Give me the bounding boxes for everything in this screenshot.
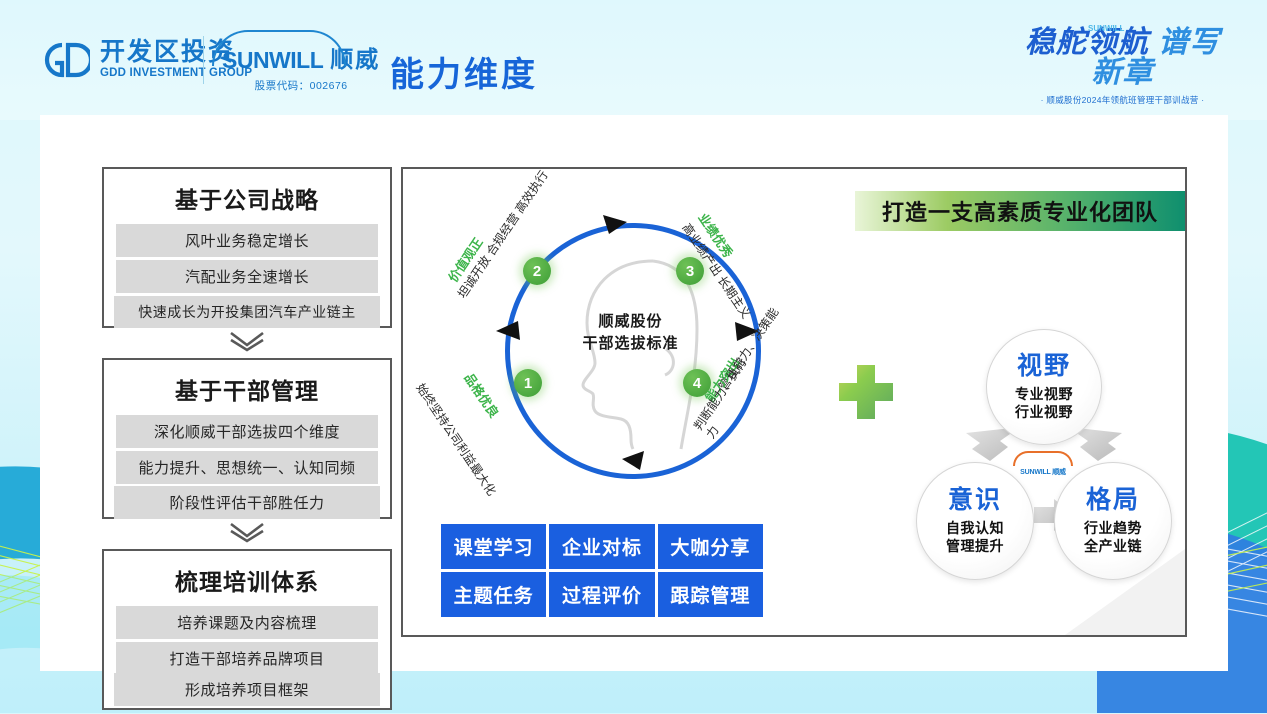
capability-panel: 顺威股份 干部选拔标准 1 2 3 4 始终坚持公司利益最大化 品格优良 坦诚开… (401, 167, 1187, 637)
team-goal-banner: 打造一支高素质专业化团队 (855, 191, 1185, 231)
camp-logo-subtitle: · 顺威股份2024年领航班管理干部训战营 · (1010, 94, 1235, 106)
sunwill-mini-logo-text: SUNWILL 顺威 (1008, 467, 1078, 477)
strategy-block: 基于公司战略 风叶业务稳定增长 汽配业务全速增长 快速成长为开投集团汽车产业链主 (102, 167, 392, 354)
content-card: 基于公司战略 风叶业务稳定增长 汽配业务全速增长 快速成长为开投集团汽车产业链主… (40, 115, 1228, 671)
training-method-cell[interactable]: 课堂学习 (441, 524, 546, 569)
block-row-outer: 快速成长为开投集团汽车产业链主 (114, 296, 380, 328)
block-row: 能力提升、思想统一、认知同频 (116, 451, 378, 484)
training-methods-row: 主题任务 过程评价 跟踪管理 (441, 572, 763, 617)
training-methods-grid: 课堂学习 企业对标 大咖分享 主题任务 过程评价 跟踪管理 (441, 524, 763, 620)
cycle-center-text: 顺威股份 干部选拔标准 (548, 311, 713, 355)
header-divider (203, 36, 204, 84)
block-row-outer: 阶段性评估干部胜任力 (114, 486, 380, 519)
capability-circle-title: 视野 (1017, 353, 1071, 381)
chevron-down-icon (102, 519, 392, 545)
strategy-block: 梳理培训体系 培养课题及内容梳理 打造干部培养品牌项目 形成培养项目框架 (102, 549, 392, 710)
strategy-block: 基于干部管理 深化顺威干部选拔四个维度 能力提升、思想统一、认知同频 阶段性评估… (102, 358, 392, 545)
training-method-cell[interactable]: 企业对标 (549, 524, 654, 569)
cycle-center-line1: 顺威股份 (548, 311, 713, 333)
capability-circle-line2: 管理提升 (946, 537, 1004, 555)
sunwill-arc-icon (212, 30, 346, 66)
capability-circle-title: 格局 (1086, 487, 1140, 515)
training-method-cell[interactable]: 大咖分享 (658, 524, 763, 569)
block-row: 风叶业务稳定增长 (116, 224, 378, 257)
block-title: 梳理培训体系 (116, 551, 378, 606)
block-row: 培养课题及内容梳理 (116, 606, 378, 639)
cycle-arrow-left-icon (496, 319, 522, 341)
camp-logo-line1: 稳舵领航 (1025, 26, 1149, 59)
block-row: 汽配业务全速增长 (116, 260, 378, 293)
block-title: 基于公司战略 (116, 169, 378, 224)
cycle-label-1-green: 品格优良 (460, 371, 501, 421)
training-method-cell[interactable]: 过程评价 (549, 572, 654, 617)
page-title: 能力维度 (390, 47, 538, 96)
sunwill-stock-code: 股票代码：002676 (222, 78, 380, 93)
capability-circle-line1: 自我认知 (946, 519, 1004, 537)
gd-monogram-icon (44, 41, 90, 79)
block-row: 打造干部培养品牌项目 (116, 642, 378, 675)
cycle-node-2[interactable]: 2 (523, 257, 551, 285)
team-goal-banner-text: 打造一支高素质专业化团队 (882, 195, 1158, 227)
block-title: 基于干部管理 (116, 360, 378, 415)
panel-corner-decoration (1065, 549, 1185, 635)
block-row-outer: 形成培养项目框架 (114, 673, 380, 706)
cycle-center-line2: 干部选拔标准 (548, 333, 713, 355)
sunwill-mini-arc-icon (1013, 451, 1073, 466)
training-method-cell[interactable]: 主题任务 (441, 572, 546, 617)
selection-criteria-cycle: 顺威股份 干部选拔标准 1 2 3 4 始终坚持公司利益最大化 品格优良 坦诚开… (433, 181, 823, 511)
camp-logo-tiny-mark: SUNWILL (1088, 24, 1124, 33)
training-methods-row: 课堂学习 企业对标 大咖分享 (441, 524, 763, 569)
capability-circle-line2: 行业视野 (1015, 403, 1073, 421)
block-row: 深化顺威干部选拔四个维度 (116, 415, 378, 448)
capability-circle-line1: 行业趋势 (1084, 519, 1142, 537)
capability-circle-line1: 专业视野 (1015, 385, 1073, 403)
cycle-node-1[interactable]: 1 (514, 369, 542, 397)
slide-header: 开发区投资 GDD INVESTMENT GROUP SUNWILL 顺威 股票… (0, 0, 1267, 118)
strategy-blocks-column: 基于公司战略 风叶业务稳定增长 汽配业务全速增长 快速成长为开投集团汽车产业链主… (102, 167, 392, 714)
capability-circle-vision[interactable]: 视野 专业视野 行业视野 (986, 329, 1102, 445)
camp-logo: SUNWILL 稳舵领航 谱写新章 · 顺威股份2024年领航班管理干部训战营 … (1010, 28, 1235, 98)
training-method-cell[interactable]: 跟踪管理 (658, 572, 763, 617)
sunwill-logo: SUNWILL 顺威 股票代码：002676 (222, 40, 380, 93)
cycle-label-1-title: 品格优良 (460, 371, 501, 421)
capability-circle-title: 意识 (948, 487, 1002, 515)
chevron-down-icon (102, 328, 392, 354)
capability-circle-awareness[interactable]: 意识 自我认知 管理提升 (916, 462, 1034, 580)
plus-icon (835, 361, 897, 423)
cycle-arrow-top-icon (603, 213, 629, 235)
sunwill-mini-logo: SUNWILL 顺威 (1008, 451, 1078, 477)
cycle-arrow-bottom-icon (618, 449, 644, 471)
